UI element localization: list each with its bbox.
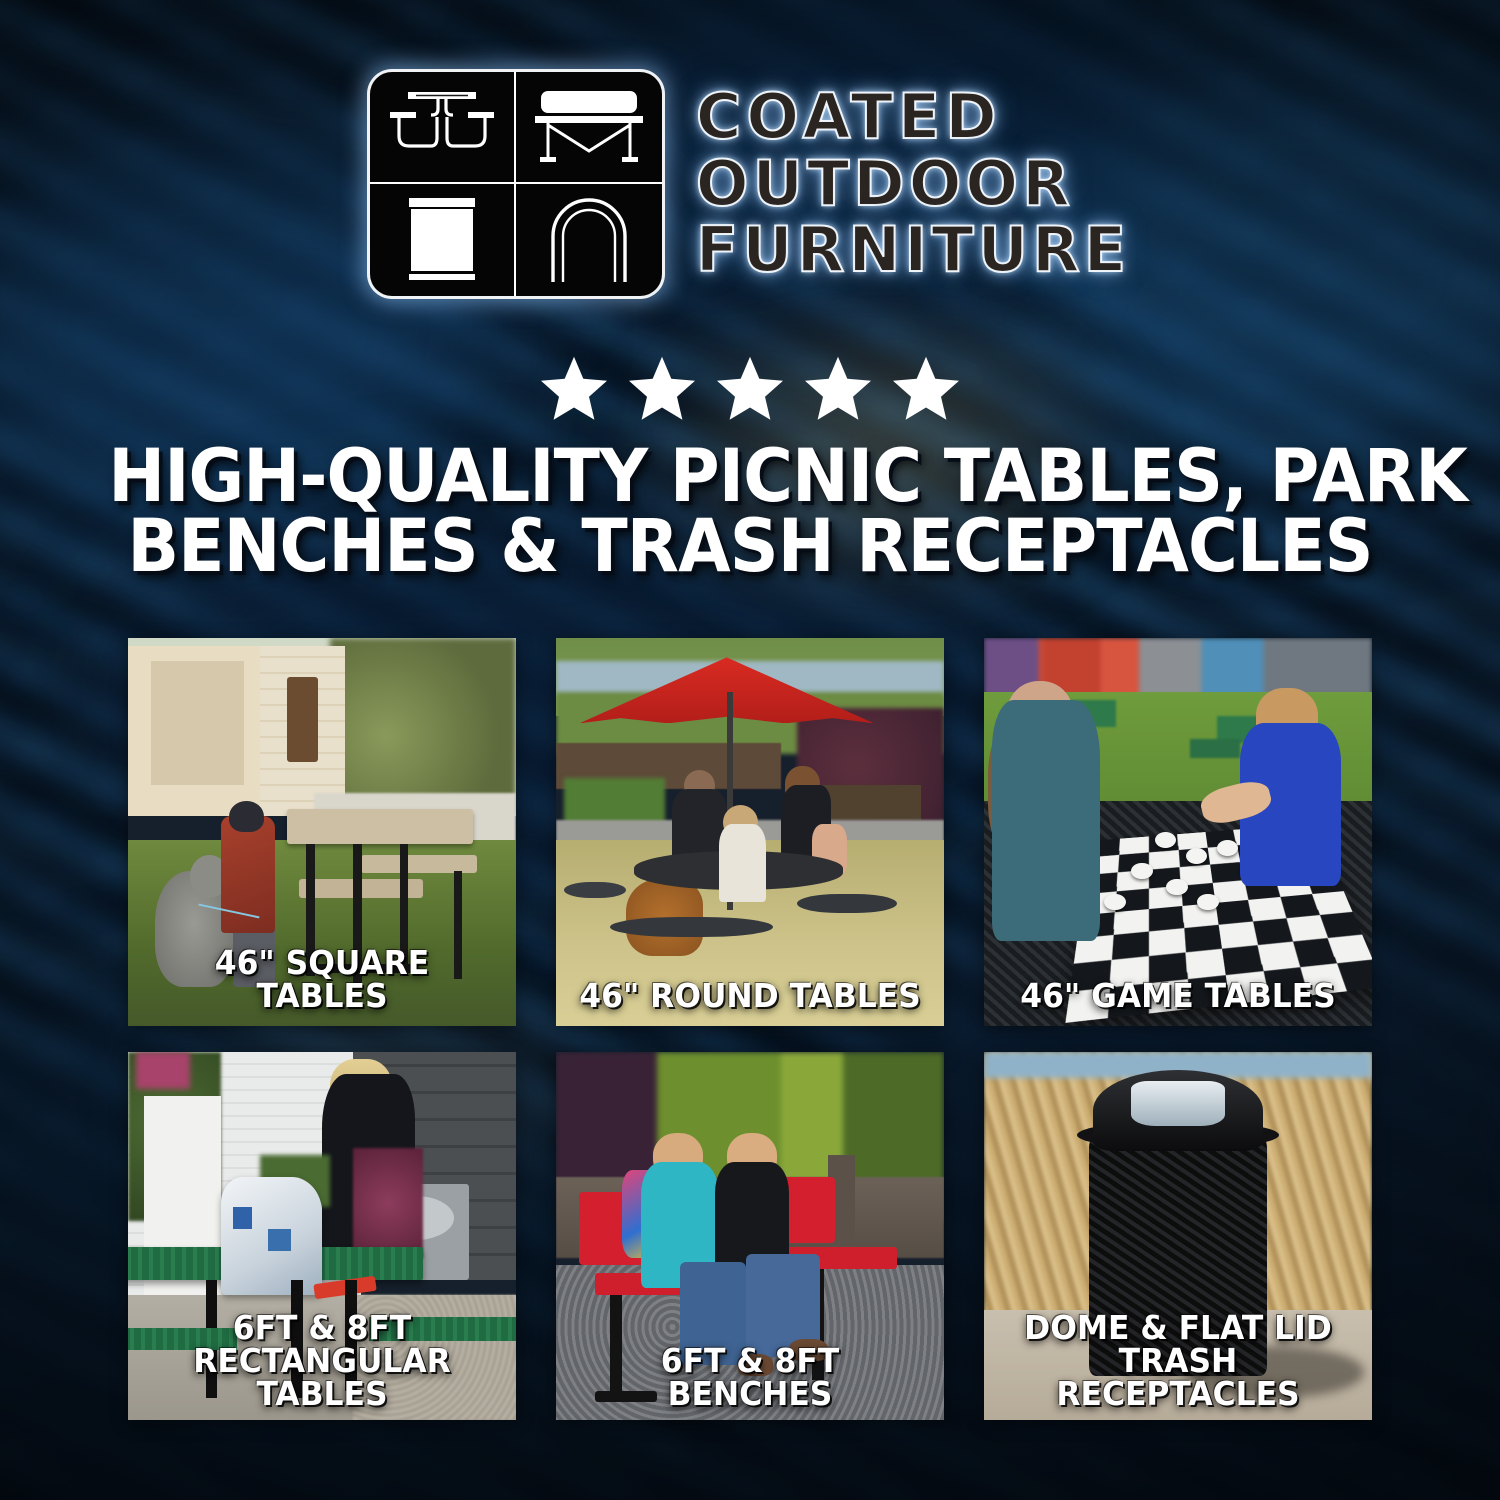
star-icon (625, 352, 699, 424)
headline-line-1: HIGH-QUALITY PICNIC TABLES, PARK (108, 442, 1391, 512)
logo-wordmark: COATED OUTDOOR FURNITURE (696, 85, 1130, 282)
star-icon (537, 352, 611, 424)
tile-caption: 6FT & 8FT BENCHES (573, 1344, 926, 1410)
product-tile-round-tables[interactable]: 46" ROUND TABLES (556, 638, 944, 1026)
product-tile-benches[interactable]: 6FT & 8FT BENCHES (556, 1052, 944, 1420)
bench-table-side-icon (516, 72, 662, 184)
tile-caption: 46" GAME TABLES (1001, 979, 1354, 1012)
product-tile-trash-receptacles[interactable]: DOME & FLAT LID TRASH RECEPTACLES (984, 1052, 1372, 1420)
logo-icon-grid (370, 72, 662, 296)
tile-caption: 6FT & 8FT RECTANGULAR TABLES (145, 1311, 498, 1410)
product-photo-grid: 46" SQUARE TABLES (128, 638, 1372, 1420)
photo-game-tables (984, 638, 1372, 1026)
star-rating (0, 352, 1500, 424)
caption-line-1: 46" ROUND TABLES (579, 976, 920, 1015)
star-icon (801, 352, 875, 424)
caption-line-2: RECTANGULAR TABLES (145, 1344, 498, 1410)
brand-logo: COATED OUTDOOR FURNITURE (0, 72, 1500, 296)
headline-line-2: BENCHES & TRASH RECEPTACLES (108, 512, 1391, 582)
picnic-table-icon (370, 72, 516, 184)
logo-line-3: FURNITURE (696, 218, 1130, 282)
logo-line-1: COATED (696, 85, 1130, 149)
tile-caption: 46" ROUND TABLES (573, 979, 926, 1012)
caption-line-2: TRASH RECEPTACLES (1001, 1344, 1354, 1410)
tile-caption: DOME & FLAT LID TRASH RECEPTACLES (1001, 1311, 1354, 1410)
product-tile-game-tables[interactable]: 46" GAME TABLES (984, 638, 1372, 1026)
star-icon (713, 352, 787, 424)
logo-line-2: OUTDOOR (696, 152, 1130, 216)
caption-line-1: 46" SQUARE TABLES (215, 943, 429, 1015)
bike-rack-arch-icon (516, 184, 662, 296)
star-icon (889, 352, 963, 424)
caption-line-1: 46" GAME TABLES (1020, 976, 1335, 1015)
photo-round-tables (556, 638, 944, 1026)
trash-receptacle-icon (370, 184, 516, 296)
page-headline: HIGH-QUALITY PICNIC TABLES, PARK BENCHES… (108, 442, 1391, 582)
caption-line-2: BENCHES (573, 1377, 926, 1410)
tile-caption: 46" SQUARE TABLES (145, 946, 498, 1012)
product-tile-rectangular-tables[interactable]: 6FT & 8FT RECTANGULAR TABLES (128, 1052, 516, 1420)
product-tile-square-tables[interactable]: 46" SQUARE TABLES (128, 638, 516, 1026)
